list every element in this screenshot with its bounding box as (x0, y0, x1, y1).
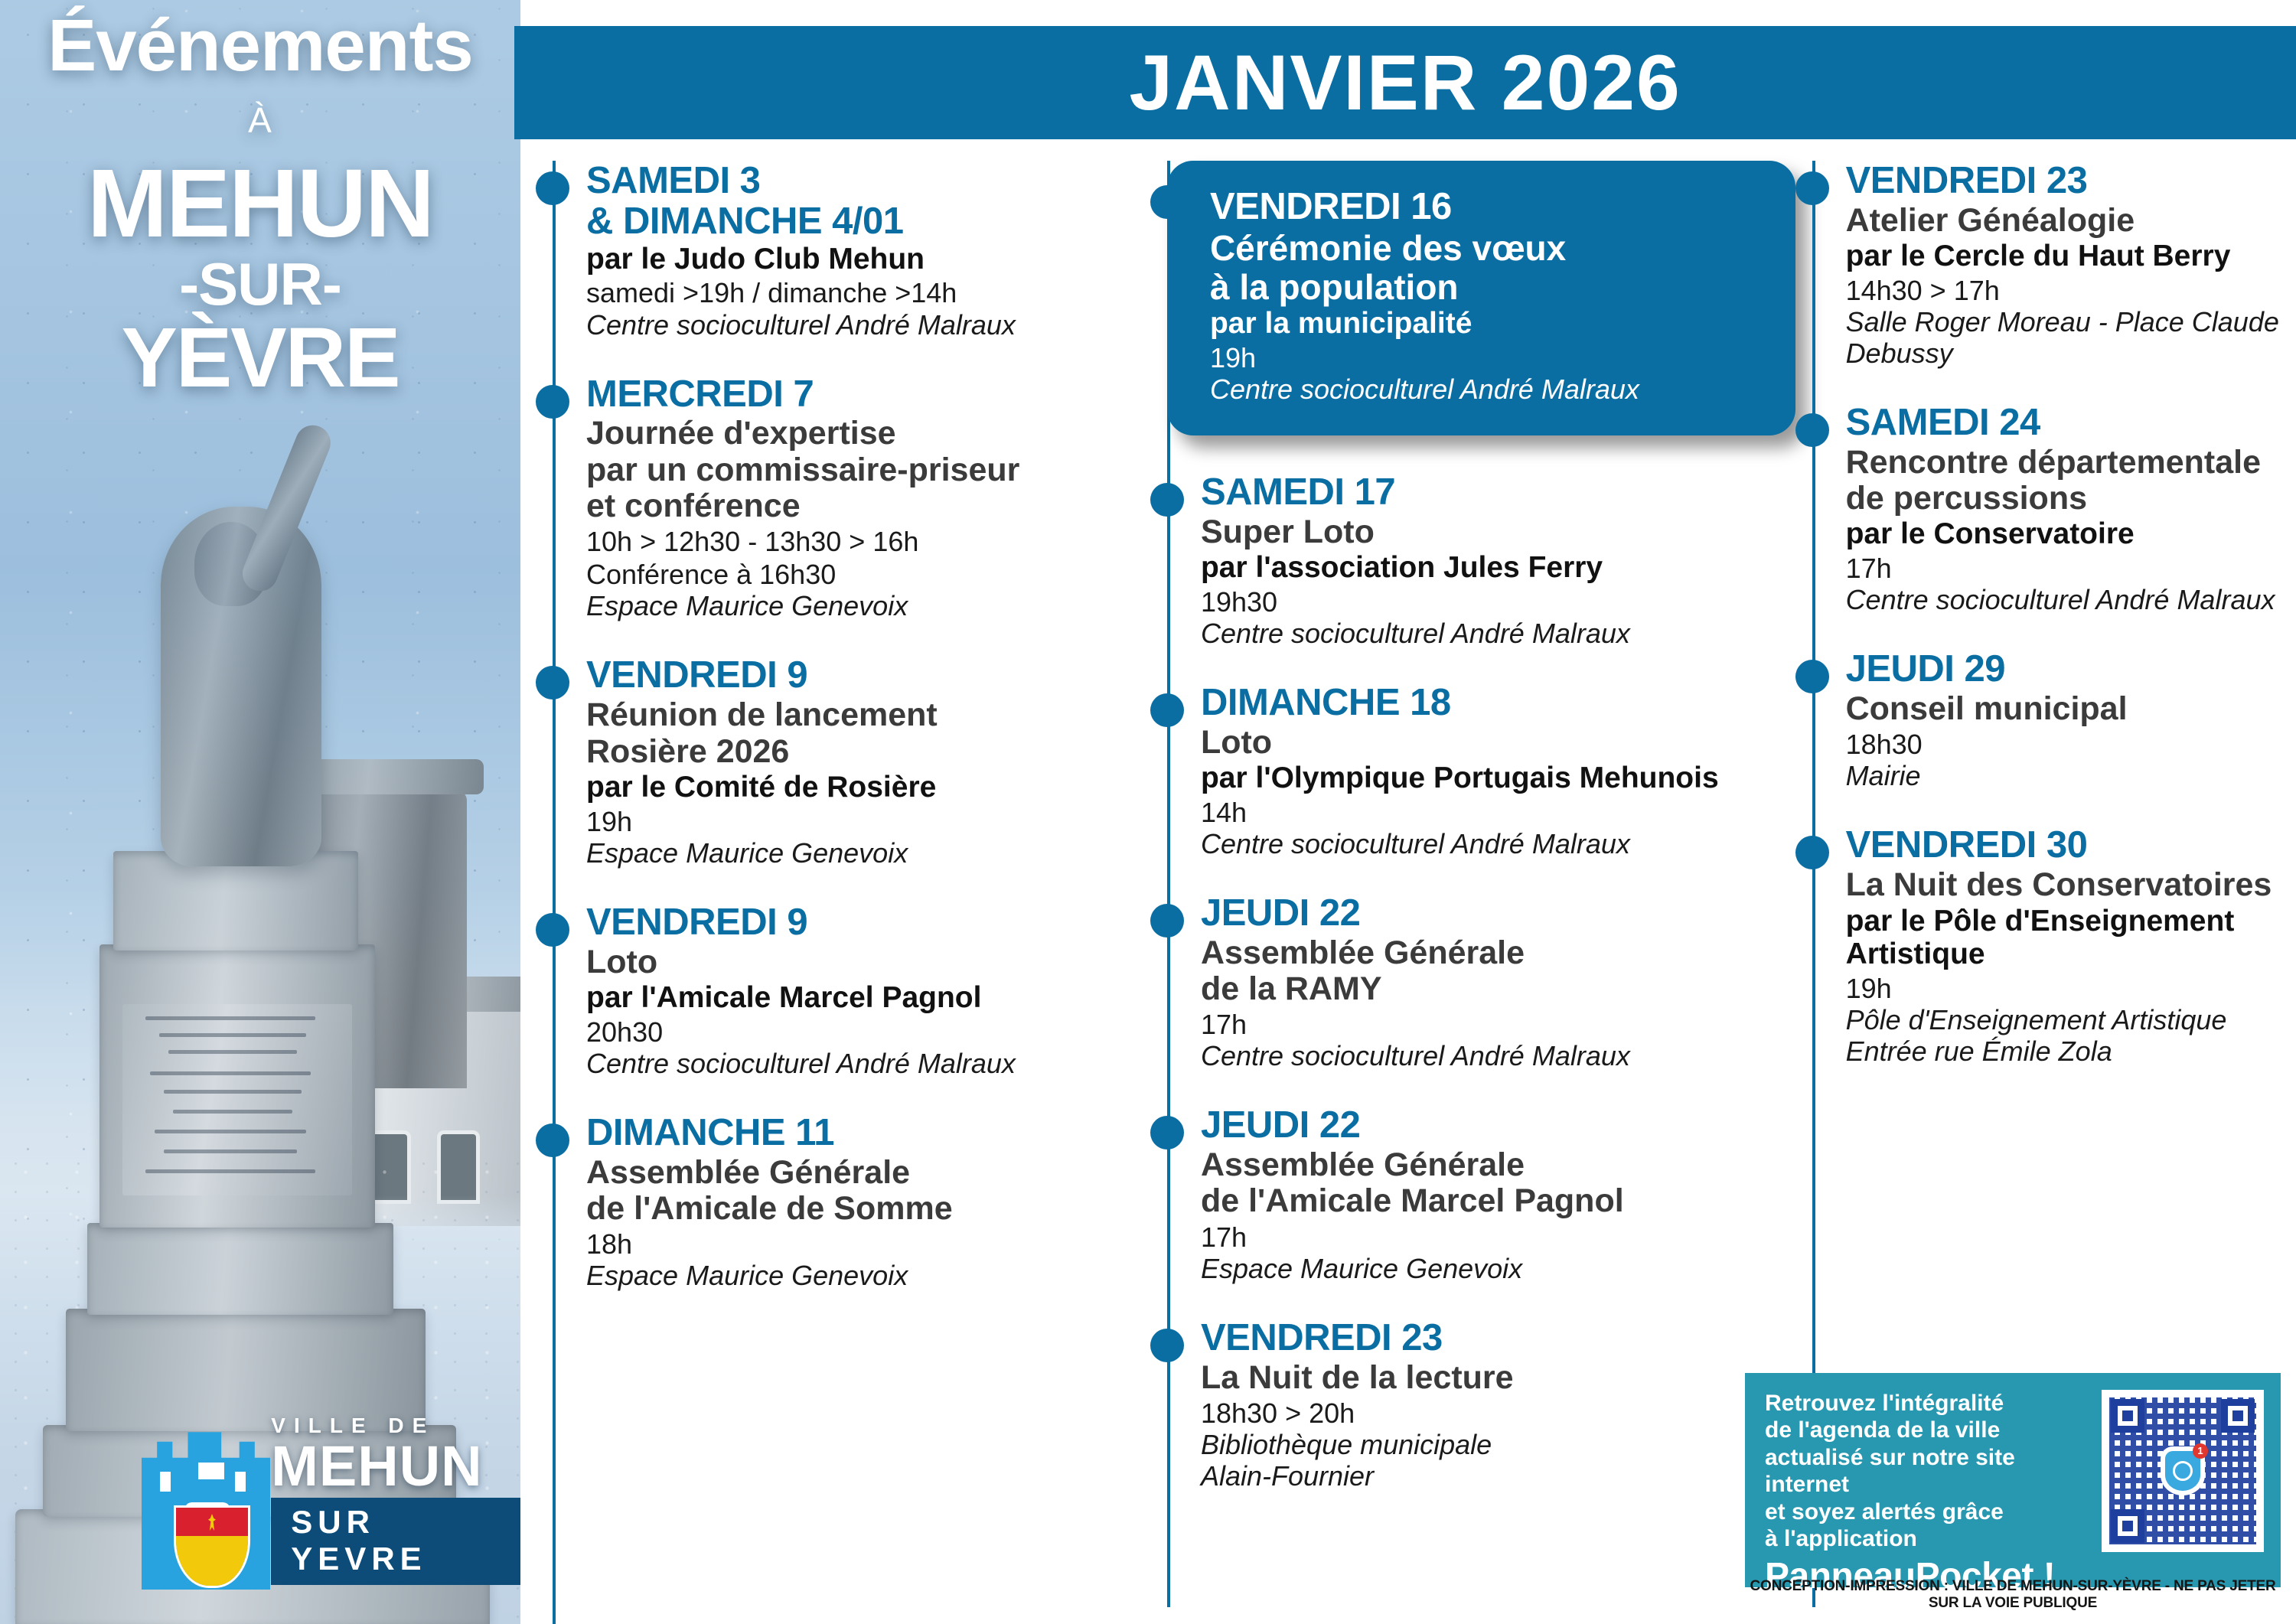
event-time: samedi >19h / dimanche >14h (586, 277, 1150, 308)
event-organizer: par le Judo Club Mehun (586, 243, 1150, 276)
event-item[interactable]: DIMANCHE 11Assemblée Généralede l'Amical… (536, 1113, 1150, 1292)
event-title: Conseil municipal (1846, 691, 2281, 727)
month-header-bar: JANVIER 2026 (514, 26, 2296, 139)
event-organizer: par le Conservatoire (1846, 517, 2281, 551)
timeline-dot-icon (1150, 483, 1184, 517)
city-logo-sur-yevre: SUR YEVRE (271, 1498, 520, 1585)
event-date: SAMEDI 17 (1201, 472, 1795, 513)
event-place: Centre socioculturel André Malraux (586, 309, 1150, 341)
promo-line-1: Retrouvez l'intégralité (1765, 1390, 2089, 1417)
event-title: Assemblée Généralede la RAMY (1201, 935, 1795, 1008)
qr-notification-badge: 1 (2193, 1443, 2208, 1459)
event-title: Journée d'expertisepar un commissaire-pr… (586, 416, 1150, 524)
event-place-line2: Alain-Fournier (1201, 1460, 1795, 1492)
hero-title: Événements À MEHUN -SUR- YÈVRE (0, 9, 520, 401)
event-title: Atelier Généalogie (1846, 203, 2281, 239)
timeline-dot-icon (536, 666, 569, 699)
event-item[interactable]: VENDREDI 23La Nuit de la lecture18h30 > … (1150, 1318, 1795, 1492)
promo-line-3: actualisé sur notre site internet (1765, 1444, 2089, 1498)
event-date: JEUDI 22 (1201, 893, 1795, 934)
column-1: SAMEDI 3& DIMANCHE 4/01par le Judo Club … (536, 161, 1150, 1624)
event-time: 10h > 12h30 - 13h30 > 16h (586, 526, 1150, 557)
event-place-line2: Entrée rue Émile Zola (1846, 1035, 2281, 1067)
event-place-line2: Debussy (1846, 338, 2281, 369)
credit-line: CONCEPTION-IMPRESSION : VILLE DE MEHUN-S… (1745, 1578, 2281, 1612)
timeline-dot-icon (1150, 1116, 1184, 1150)
city-logo-mehun: MEHUN (271, 1438, 520, 1495)
panneaupocket-promo-box[interactable]: Retrouvez l'intégralité de l'agenda de l… (1745, 1373, 2281, 1587)
event-time: 17h (1846, 553, 2281, 584)
timeline-dot-icon (1150, 1329, 1184, 1362)
event-title: Assemblée Généralede l'Amicale Marcel Pa… (1201, 1147, 1795, 1220)
timeline-dot-icon (1795, 836, 1829, 869)
event-title: Réunion de lancementRosière 2026 (586, 697, 1150, 770)
event-item[interactable]: DIMANCHE 18Lotopar l'Olympique Portugais… (1150, 683, 1795, 859)
event-organizer: par le Pôle d'EnseignementArtistique (1846, 905, 2281, 971)
event-organizer: par le Comité de Rosière (586, 771, 1150, 804)
event-time: 17h (1201, 1009, 1795, 1040)
event-date: VENDREDI 9 (586, 655, 1150, 696)
timeline-dot-icon (536, 1123, 569, 1157)
event-place: Espace Maurice Genevoix (586, 1260, 1150, 1291)
event-place: Mairie (1846, 760, 2281, 791)
event-place: Espace Maurice Genevoix (586, 837, 1150, 869)
event-title: Rencontre départementalede percussions (1846, 445, 2281, 517)
timeline-dot-icon (536, 171, 569, 205)
event-time: 18h30 (1846, 729, 2281, 760)
event-title: Super Loto (1201, 514, 1795, 550)
panneaupocket-pin-icon: 1 (2165, 1451, 2200, 1491)
timeline-dot-icon (1795, 171, 1829, 205)
timeline-dot-icon (536, 385, 569, 419)
event-date: VENDREDI 23 (1846, 161, 2281, 201)
event-date: VENDREDI 9 (586, 902, 1150, 943)
event-time: 20h30 (586, 1016, 1150, 1048)
event-title: La Nuit des Conservatoires (1846, 867, 2281, 903)
timeline-dot-icon (1795, 660, 1829, 693)
coat-of-arms-icon (174, 1505, 250, 1588)
event-organizer: par l'association Jules Ferry (1201, 551, 1795, 585)
event-date: SAMEDI 24 (1846, 403, 2281, 443)
event-place: Centre socioculturel André Malraux (586, 1048, 1150, 1079)
qr-code-icon[interactable]: 1 (2102, 1390, 2264, 1552)
event-place: Centre socioculturel André Malraux (1846, 584, 2281, 615)
event-date: DIMANCHE 18 (1201, 683, 1795, 723)
event-date: SAMEDI 3& DIMANCHE 4/01 (586, 161, 1150, 242)
event-item[interactable]: JEUDI 22Assemblée Généralede l'Amicale M… (1150, 1105, 1795, 1284)
event-item[interactable]: VENDREDI 23Atelier Généalogiepar le Cerc… (1795, 161, 2281, 369)
event-item[interactable]: VENDREDI 9Lotopar l'Amicale Marcel Pagno… (536, 902, 1150, 1079)
column-3-events: VENDREDI 23Atelier Généalogiepar le Cerc… (1795, 161, 2281, 1067)
event-place: Bibliothèque municipale (1201, 1429, 1795, 1460)
column-1-events: SAMEDI 3& DIMANCHE 4/01par le Judo Club … (536, 161, 1150, 1291)
event-time-secondary: Conférence à 16h30 (586, 559, 1150, 590)
event-title: Cérémonie des vœux à la population (1210, 229, 1765, 306)
timeline-dot-icon (536, 913, 569, 947)
promo-line-4: et soyez alertés grâce (1765, 1498, 2089, 1525)
event-organizer: par l'Amicale Marcel Pagnol (586, 981, 1150, 1015)
event-date: MERCREDI 7 (586, 374, 1150, 415)
event-item[interactable]: MERCREDI 7Journée d'expertisepar un comm… (536, 374, 1150, 622)
event-card-body: VENDREDI 16Cérémonie des vœux à la popul… (1167, 161, 1795, 435)
event-place: Espace Maurice Genevoix (586, 590, 1150, 621)
hero-line-mehun: MEHUN (0, 155, 520, 253)
event-place: Centre socioculturel André Malraux (1201, 828, 1795, 859)
promo-line-2: de l'agenda de la ville (1765, 1417, 2089, 1443)
timeline-dot-icon (1150, 693, 1184, 727)
event-date: JEUDI 29 (1846, 649, 2281, 690)
timeline-dot-icon (1150, 904, 1184, 938)
event-place: Salle Roger Moreau - Place Claude (1846, 306, 2281, 338)
event-date: VENDREDI 23 (1201, 1318, 1795, 1358)
event-time: 14h30 > 17h (1846, 275, 2281, 306)
event-title: Loto (1201, 725, 1795, 761)
timeline-dot-icon (1795, 413, 1829, 447)
event-organizer: par l'Olympique Portugais Mehunois (1201, 761, 1795, 795)
event-title: La Nuit de la lecture (1201, 1360, 1795, 1396)
event-place: Centre socioculturel André Malraux (1210, 373, 1765, 405)
event-time: 18h30 > 20h (1201, 1397, 1795, 1429)
event-place: Centre socioculturel André Malraux (1201, 618, 1795, 649)
event-place: Centre socioculturel André Malraux (1201, 1040, 1795, 1071)
event-place: Pôle d'Enseignement Artistique (1846, 1004, 2281, 1035)
event-time: 14h (1201, 797, 1795, 828)
event-item[interactable]: VENDREDI 30La Nuit des Conservatoirespar… (1795, 825, 2281, 1067)
event-item[interactable]: SAMEDI 17Super Lotopar l'association Jul… (1150, 472, 1795, 649)
event-place: Espace Maurice Genevoix (1201, 1253, 1795, 1284)
event-title: Assemblée Généralede l'Amicale de Somme (586, 1155, 1150, 1228)
event-date: VENDREDI 30 (1846, 825, 2281, 866)
event-time: 18h (586, 1228, 1150, 1260)
hero-line-evenements: Événements (0, 9, 520, 83)
city-logo-mark (142, 1429, 259, 1590)
event-time: 19h (1210, 342, 1765, 373)
column-2-events: VENDREDI 16Cérémonie des vœux à la popul… (1150, 161, 1795, 1492)
hero-line-a: À (0, 99, 520, 141)
column-2: VENDREDI 16Cérémonie des vœux à la popul… (1150, 161, 1795, 1624)
event-time: 19h (586, 806, 1150, 837)
event-time: 19h (1846, 973, 2281, 1004)
event-title: Loto (586, 944, 1150, 980)
event-item[interactable]: SAMEDI 3& DIMANCHE 4/01par le Judo Club … (536, 161, 1150, 341)
month-title: JANVIER 2026 (1129, 38, 1681, 128)
hero-panel: Événements À MEHUN -SUR- YÈVRE VILLE DE … (0, 0, 520, 1624)
event-date: VENDREDI 16 (1210, 187, 1765, 227)
event-item[interactable]: SAMEDI 24Rencontre départementalede perc… (1795, 403, 2281, 615)
timeline-dot-icon (1150, 185, 1184, 219)
event-date: JEUDI 22 (1201, 1105, 1795, 1146)
event-item[interactable]: JEUDI 29Conseil municipal18h30Mairie (1795, 649, 2281, 791)
event-time: 17h (1201, 1221, 1795, 1253)
event-item[interactable]: JEUDI 22Assemblée Généralede la RAMY17hC… (1150, 893, 1795, 1072)
hero-line-sur: -SUR- (0, 253, 520, 315)
event-time: 19h30 (1201, 586, 1795, 618)
event-date: DIMANCHE 11 (586, 1113, 1150, 1153)
promo-line-5: à l'application (1765, 1525, 2089, 1552)
promo-text: Retrouvez l'intégralité de l'agenda de l… (1765, 1390, 2089, 1587)
event-organizer: par la municipalité (1210, 307, 1765, 341)
hero-line-yevre: YÈVRE (0, 315, 520, 401)
event-item[interactable]: VENDREDI 9Réunion de lancementRosière 20… (536, 655, 1150, 868)
event-card-highlighted[interactable]: VENDREDI 16Cérémonie des vœux à la popul… (1167, 161, 1795, 435)
city-logo: VILLE DE MEHUN SUR YEVRE (142, 1414, 520, 1590)
event-organizer: par le Cercle du Haut Berry (1846, 240, 2281, 273)
